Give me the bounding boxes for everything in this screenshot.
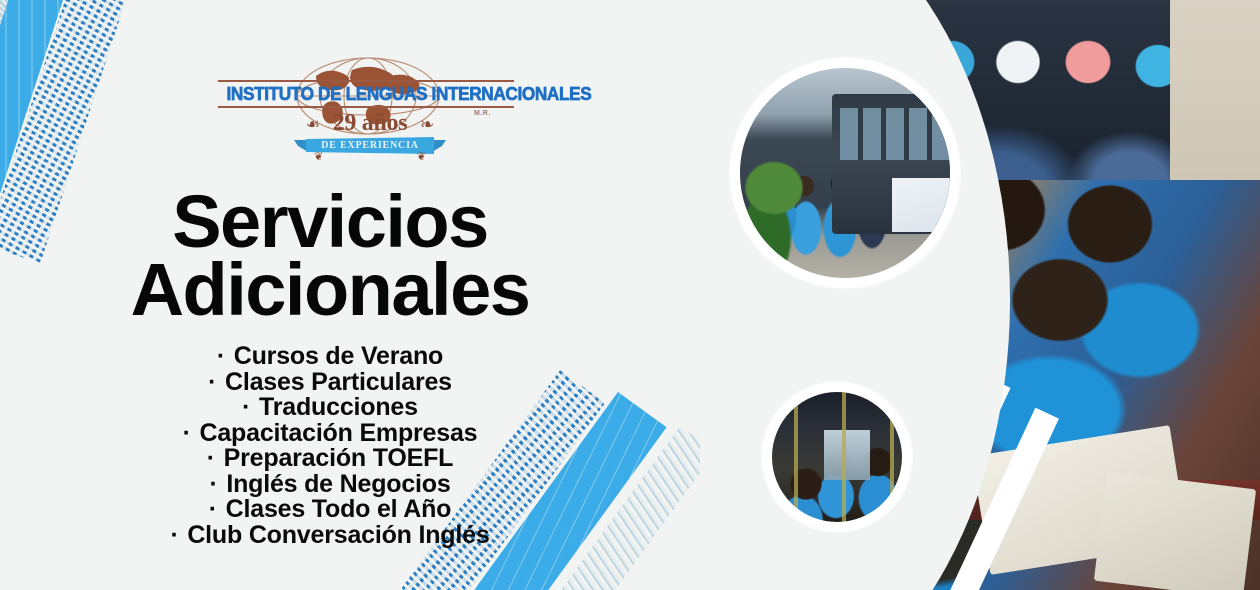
service-label: Capacitación Empresas [200, 419, 478, 447]
sprig-right-icon: ❦ [417, 150, 426, 162]
promotional-banner: Aguascalientes INSTITUTO DE LENGUAS INTE… [0, 0, 1260, 590]
service-item: · Capacitación Empresas [0, 421, 660, 447]
trademark-mark: M.R. [474, 110, 491, 117]
years-label: 29 años [290, 110, 450, 137]
service-label: Inglés de Negocios [226, 470, 450, 498]
service-label: Cursos de Verano [234, 342, 443, 370]
services-list: · Cursos de Verano· Clases Particulares·… [0, 344, 660, 548]
bus-handrails [772, 392, 902, 522]
service-item: · Inglés de Negocios [0, 472, 660, 498]
title-line-2: Adicionales [0, 256, 660, 324]
bullet-icon: · [217, 342, 225, 370]
service-label: Club Conversación Inglés [187, 521, 489, 549]
service-label: Preparación TOEFL [224, 444, 454, 472]
service-item: · Club Conversación Inglés [0, 523, 660, 549]
service-item: · Clases Particulares [0, 370, 660, 396]
bullet-icon: · [207, 444, 215, 472]
badge-sprigs: ❦ ❦ [314, 150, 426, 162]
logo-rule-bottom [218, 106, 514, 108]
bullet-icon: · [209, 495, 217, 523]
service-item: · Clases Todo el Año [0, 497, 660, 523]
bullet-icon: · [170, 521, 178, 549]
circle-photo-bus-interior [762, 382, 912, 532]
service-label: Clases Particulares [225, 368, 452, 396]
bullet-icon: · [183, 419, 191, 447]
bus-side-panel: Aguascalientes [892, 178, 960, 232]
artwork-sheet [1094, 471, 1256, 590]
bullet-icon: · [209, 470, 217, 498]
institute-logo: INSTITUTO DE LENGUAS INTERNACIONALES M.R… [216, 56, 528, 156]
service-item: · Preparación TOEFL [0, 446, 660, 472]
bullet-icon: · [242, 393, 250, 421]
service-label: Traducciones [259, 393, 418, 421]
ribbon-tail-right-icon [432, 140, 446, 152]
ribbon-tail-left-icon [294, 140, 308, 152]
bullet-icon: · [208, 368, 216, 396]
page-title: Servicios Adicionales [0, 188, 660, 324]
content-column: INSTITUTO DE LENGUAS INTERNACIONALES M.R… [0, 0, 660, 590]
sprig-left-icon: ❦ [314, 150, 323, 162]
anniversary-badge: ❧ ❧ 29 años DE EXPERIENCIA ❦ ❦ [290, 110, 450, 158]
logo-rule-top [218, 80, 514, 82]
service-label: Clases Todo el Año [226, 495, 452, 523]
bus-windows [840, 108, 960, 160]
service-item: · Traducciones [0, 395, 660, 421]
circle-photo-bus-boarding: Aguascalientes [730, 58, 960, 288]
title-line-1: Servicios [0, 188, 660, 256]
institute-name: INSTITUTO DE LENGUAS INTERNACIONALES [227, 83, 506, 105]
service-item: · Cursos de Verano [0, 344, 660, 370]
